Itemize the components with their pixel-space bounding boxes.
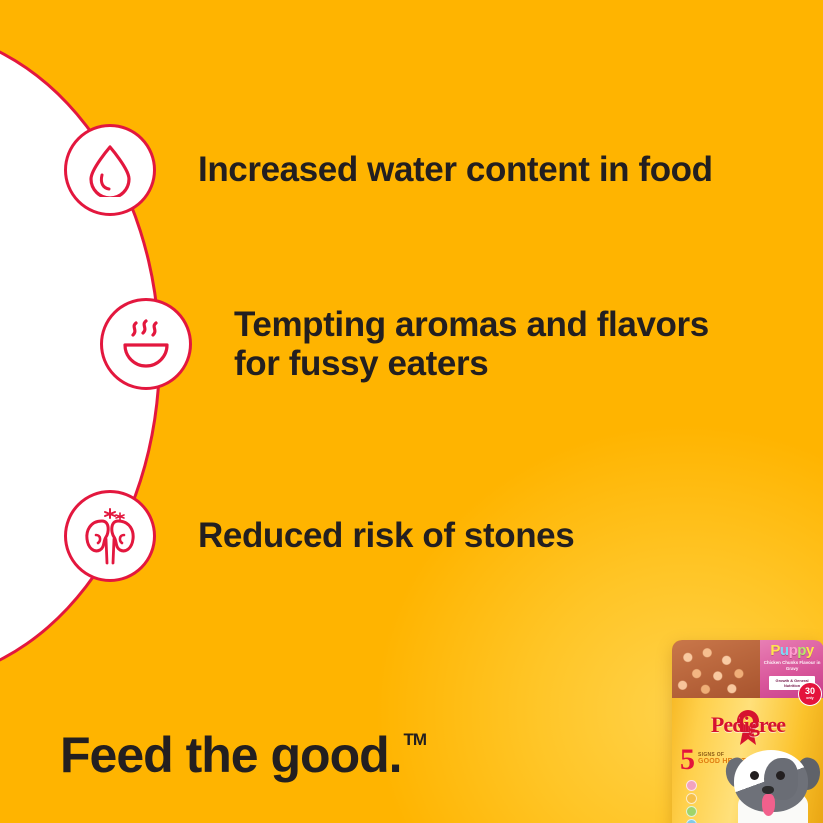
tagline-text: Feed the good.: [60, 726, 402, 784]
product-pouch: Puppy Chicken Chunks Flavour in Gravy Gr…: [672, 640, 823, 823]
health-number: 5: [680, 748, 695, 772]
brand-tagline: Feed the good. TM: [60, 726, 426, 784]
feature-label: Reduced risk of stones: [198, 516, 574, 555]
health-dot: [686, 806, 697, 817]
brand-name: Pedigree: [711, 712, 785, 738]
puppy-photo: [724, 744, 820, 823]
price-amount: 30: [805, 687, 815, 696]
pouch-body: Puppy Chicken Chunks Flavour in Gravy Gr…: [672, 640, 823, 823]
puppy-eye-right: [776, 771, 785, 780]
puppy-tongue: [762, 794, 775, 816]
puppy-letter: p: [789, 642, 798, 659]
price-note: only: [806, 697, 813, 701]
health-dot: [686, 819, 697, 823]
trademark-mark: TM: [404, 730, 427, 750]
puppy-letter: u: [780, 642, 789, 659]
feature-row-aroma: Tempting aromas and flavors for fussy ea…: [100, 298, 709, 390]
feature-label: Increased water content in food: [198, 150, 713, 189]
puppy-banner: Puppy Chicken Chunks Flavour in Gravy Gr…: [760, 640, 823, 698]
puppy-eye-left: [750, 771, 759, 780]
puppy-nose: [762, 786, 774, 794]
puppy-letter: p: [797, 642, 806, 659]
poster-canvas: Increased water content in food Tempting…: [0, 0, 823, 823]
water-drop-icon: [64, 124, 156, 216]
puppy-letter: P: [770, 642, 780, 659]
pouch-top-strip: Puppy Chicken Chunks Flavour in Gravy Gr…: [672, 640, 823, 698]
health-dot: [686, 780, 697, 791]
feature-row-water: Increased water content in food: [64, 124, 713, 216]
flavour-text: Chicken Chunks Flavour in Gravy: [760, 660, 823, 673]
kidneys-icon: [64, 490, 156, 582]
health-dots: [686, 780, 697, 823]
steaming-bowl-icon: [100, 298, 192, 390]
health-dot: [686, 793, 697, 804]
puppy-wordmark: Puppy: [760, 643, 823, 658]
feature-row-stones: Reduced risk of stones: [64, 490, 574, 582]
kibble-photo: [672, 640, 760, 698]
feature-label: Tempting aromas and flavors for fussy ea…: [234, 305, 709, 383]
brand-lockup: Pedigree: [672, 702, 823, 748]
puppy-letter: y: [806, 642, 814, 659]
